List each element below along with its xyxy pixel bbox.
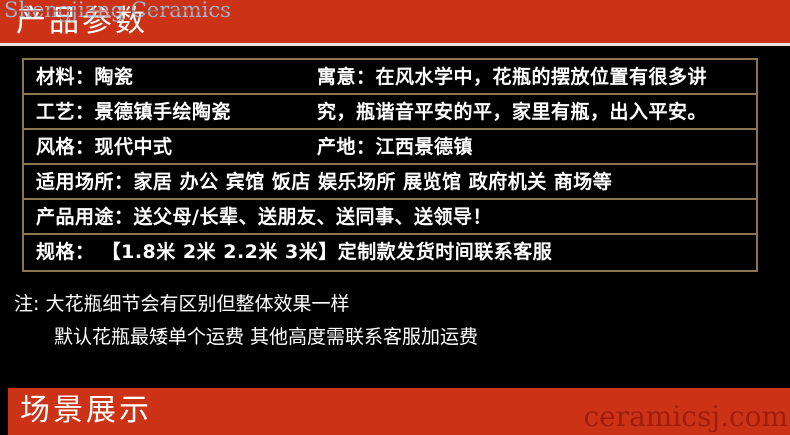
table-row: 产品用途：送父母/长辈、送朋友、送同事、送领导！ xyxy=(24,200,756,235)
spec-origin-label: 产地：江西景德镇 xyxy=(317,130,473,165)
footer-title: 场景展示 xyxy=(20,390,152,432)
spec-meaning-line2: 究，瓶谐音平安的平，家里有瓶，出入平安。 xyxy=(317,95,707,130)
notes-block: 注: 大花瓶细节会有区别但整体效果一样 默认花瓶最矮单个运费 其他高度需联系客服… xyxy=(14,288,774,354)
shop-watermark: Shengjiang Ceramics xyxy=(4,0,231,22)
table-row: 适用场所：家居 办公 宾馆 饭店 娱乐场所 展览馆 政府机关 商场等 xyxy=(24,165,756,200)
spec-style-label: 风格：现代中式 xyxy=(36,130,173,165)
product-detail-page: 产品参数 Shengjiang Ceramics 材料：陶瓷 寓意：在风水学中，… xyxy=(0,0,790,435)
note-line-1: 注: 大花瓶细节会有区别但整体效果一样 xyxy=(14,288,774,321)
spec-table: 材料：陶瓷 寓意：在风水学中，花瓶的摆放位置有很多讲 工艺：景德镇手绘陶瓷 究，… xyxy=(22,58,758,272)
scene-display-banner: 场景展示 ceramicsj.com xyxy=(8,388,790,435)
note-line-2: 默认花瓶最矮单个运费 其他高度需联系客服加运费 xyxy=(14,321,774,354)
table-row: 材料：陶瓷 寓意：在风水学中，花瓶的摆放位置有很多讲 xyxy=(24,60,756,95)
spec-size-label: 规格： 【1.8米 2米 2.2米 3米】定制款发货时间联系客服 xyxy=(36,235,552,270)
spec-meaning-line1: 寓意：在风水学中，花瓶的摆放位置有很多讲 xyxy=(317,60,707,95)
table-row: 规格： 【1.8米 2米 2.2米 3米】定制款发货时间联系客服 xyxy=(24,235,756,270)
spec-craft-label: 工艺：景德镇手绘陶瓷 xyxy=(36,95,231,130)
spec-usage-label: 产品用途：送父母/长辈、送朋友、送同事、送领导！ xyxy=(36,200,492,235)
spec-venues-label: 适用场所：家居 办公 宾馆 饭店 娱乐场所 展览馆 政府机关 商场等 xyxy=(36,165,612,200)
site-watermark: ceramicsj.com xyxy=(583,401,788,433)
table-row: 风格：现代中式 产地：江西景德镇 xyxy=(24,130,756,165)
spec-material-label: 材料：陶瓷 xyxy=(36,60,134,95)
table-row: 工艺：景德镇手绘陶瓷 究，瓶谐音平安的平，家里有瓶，出入平安。 xyxy=(24,95,756,130)
banner-divider-rule xyxy=(0,43,790,46)
